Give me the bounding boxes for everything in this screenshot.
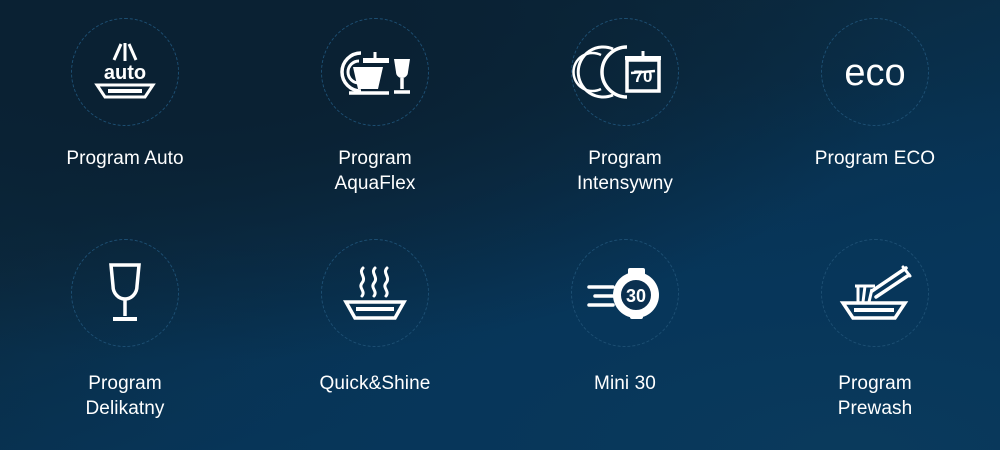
- program-eco-icon: eco: [833, 48, 917, 96]
- program-delikatny-ring: [71, 239, 179, 347]
- program-eco-label: Program ECO: [815, 146, 935, 171]
- program-tile-auto[interactable]: auto Program Auto: [0, 0, 250, 225]
- program-intensywny-label: Program Intensywny: [577, 146, 673, 196]
- program-grid: auto Program Auto: [0, 0, 1000, 450]
- program-prewash-ring: [821, 239, 929, 347]
- program-tile-prewash[interactable]: Program Prewash: [750, 225, 1000, 450]
- program-mini30-icon-text: 30: [626, 286, 646, 306]
- program-delikatny-icon: [102, 262, 148, 324]
- program-quickshine-label: Quick&Shine: [320, 371, 431, 396]
- program-mini30-icon: 30: [587, 265, 663, 321]
- program-aquaflex-label: Program AquaFlex: [334, 146, 415, 196]
- program-aquaflex-ring: [321, 18, 429, 126]
- program-auto-ring: auto: [71, 18, 179, 126]
- program-prewash-label: Program Prewash: [838, 371, 913, 421]
- program-intensywny-icon: 70: [587, 43, 663, 101]
- program-mini30-ring: 30: [571, 239, 679, 347]
- program-quickshine-icon: [342, 264, 408, 322]
- program-auto-icon: auto: [88, 41, 162, 103]
- program-tile-aquaflex[interactable]: Program AquaFlex: [250, 0, 500, 225]
- program-quickshine-ring: [321, 239, 429, 347]
- program-tile-mini30[interactable]: 30 Mini 30: [500, 225, 750, 450]
- program-aquaflex-icon: [337, 45, 413, 99]
- program-tile-intensywny[interactable]: 70 Program Intensywny: [500, 0, 750, 225]
- program-delikatny-label: Program Delikatny: [85, 371, 164, 421]
- program-eco-icon-text: eco: [844, 52, 905, 94]
- program-tile-eco[interactable]: eco Program ECO: [750, 0, 1000, 225]
- program-prewash-icon: [839, 265, 911, 321]
- program-auto-icon-text: auto: [104, 62, 146, 84]
- program-tile-delikatny[interactable]: Program Delikatny: [0, 225, 250, 450]
- program-intensywny-ring: 70: [571, 18, 679, 126]
- program-tile-quickshine[interactable]: Quick&Shine: [250, 225, 500, 450]
- program-mini30-label: Mini 30: [594, 371, 656, 396]
- program-intensywny-icon-text: 70: [634, 67, 653, 86]
- program-icons-panel: auto Program Auto: [0, 0, 1000, 450]
- program-eco-ring: eco: [821, 18, 929, 126]
- program-auto-label: Program Auto: [66, 146, 183, 171]
